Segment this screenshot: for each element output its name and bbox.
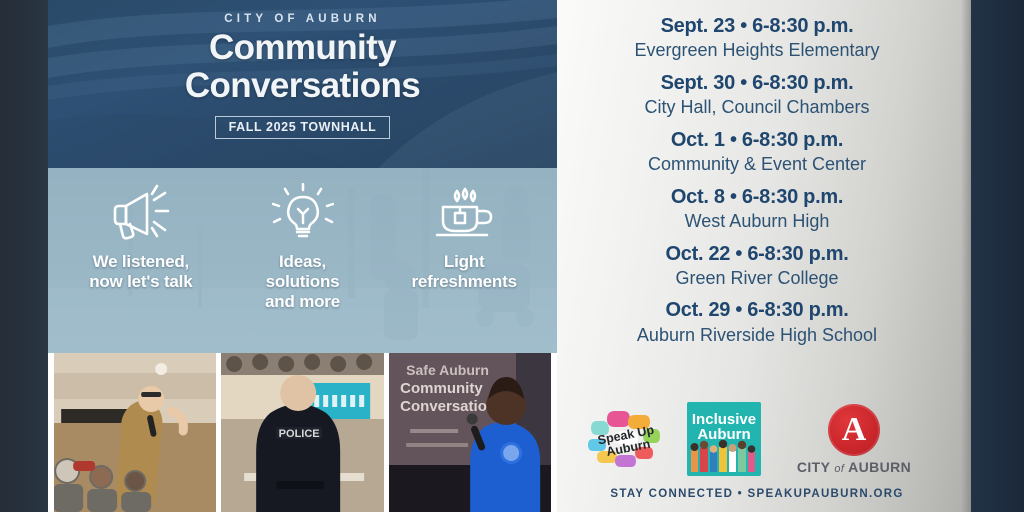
status-badge: FALL 2025 TOWNHALL bbox=[215, 116, 391, 139]
title-line-1: Community bbox=[209, 28, 396, 67]
feature-caption-line-2: solutions bbox=[266, 272, 340, 291]
page-title: Community Conversations bbox=[185, 31, 420, 104]
list-item: Oct. 22 • 6-8:30 p.m. Green River Colleg… bbox=[666, 242, 849, 290]
feature-caption-line-1: Ideas, bbox=[279, 252, 326, 271]
feature-caption-line-1: We listened, bbox=[93, 252, 189, 271]
title-line-2: Conversations bbox=[185, 69, 420, 103]
list-item: Oct. 1 • 6-8:30 p.m. Community & Event C… bbox=[648, 128, 866, 176]
auburn-a-mark: A bbox=[828, 404, 880, 456]
header-kicker: CITY OF AUBURN bbox=[224, 13, 381, 25]
feature-caption: We listened, now let's talk bbox=[89, 252, 192, 292]
event-date: Oct. 22 • 6-8:30 p.m. bbox=[666, 242, 849, 266]
feature-caption-line-3: and more bbox=[265, 292, 340, 311]
feature-caption-line-2: refreshments bbox=[412, 272, 517, 291]
event-date: Oct. 8 • 6-8:30 p.m. bbox=[671, 185, 843, 209]
left-side-band bbox=[0, 0, 48, 512]
auburn-a-letter: A bbox=[842, 413, 867, 447]
city-of-auburn-wordmark: CITY of AUBURN bbox=[797, 459, 911, 475]
features-band: We listened, now let's talk bbox=[48, 168, 557, 353]
wordmark-of: of bbox=[834, 463, 844, 475]
wordmark-city: CITY bbox=[797, 459, 830, 475]
right-side-band bbox=[971, 0, 1024, 512]
photo-presenter-at-safe-auburn-slide: Safe Auburn Community Conversations bbox=[389, 353, 551, 512]
list-item: Oct. 29 • 6-8:30 p.m. Auburn Riverside H… bbox=[637, 298, 877, 346]
inclusive-auburn-logo: Inclusive Auburn bbox=[687, 402, 761, 476]
photo-strip: POLICE Safe Auburn Community Conversatio… bbox=[48, 353, 557, 512]
partner-logos: Speak Up Auburn Inclusive Auburn bbox=[557, 396, 957, 482]
megaphone-icon bbox=[107, 182, 175, 244]
svg-text:Community: Community bbox=[400, 380, 483, 397]
list-item: Sept. 23 • 6-8:30 p.m. Evergreen Heights… bbox=[634, 14, 879, 62]
event-venue: City Hall, Council Chambers bbox=[644, 96, 869, 119]
poster-header: CITY OF AUBURN Community Conversations F… bbox=[48, 0, 557, 168]
list-item: Sept. 30 • 6-8:30 p.m. City Hall, Counci… bbox=[644, 71, 869, 119]
event-date: Oct. 29 • 6-8:30 p.m. bbox=[637, 298, 877, 322]
feature-caption-line-1: Light bbox=[444, 252, 485, 271]
event-date: Oct. 1 • 6-8:30 p.m. bbox=[648, 128, 866, 152]
event-list: Sept. 23 • 6-8:30 p.m. Evergreen Heights… bbox=[557, 14, 957, 355]
poster-left-column: CITY OF AUBURN Community Conversations F… bbox=[48, 0, 557, 512]
event-date: Sept. 23 • 6-8:30 p.m. bbox=[634, 14, 879, 38]
schedule-panel: Sept. 23 • 6-8:30 p.m. Evergreen Heights… bbox=[557, 0, 971, 512]
wordmark-auburn: AUBURN bbox=[848, 459, 911, 475]
feature-caption: Ideas, solutions and more bbox=[265, 252, 340, 312]
poster-screenshot: Sept. 23 • 6-8:30 p.m. Evergreen Heights… bbox=[0, 0, 1024, 512]
event-venue: West Auburn High bbox=[671, 210, 843, 233]
coffee-cup-icon bbox=[429, 182, 499, 244]
event-venue: Evergreen Heights Elementary bbox=[634, 39, 879, 62]
feature-item: Ideas, solutions and more bbox=[222, 182, 384, 353]
feature-caption-line-2: now let's talk bbox=[89, 272, 192, 291]
event-venue: Green River College bbox=[666, 267, 849, 290]
event-venue: Auburn Riverside High School bbox=[637, 324, 877, 347]
event-date: Sept. 30 • 6-8:30 p.m. bbox=[644, 71, 869, 95]
feature-item: Light refreshments bbox=[383, 182, 545, 353]
feature-caption: Light refreshments bbox=[412, 252, 517, 292]
svg-text:POLICE: POLICE bbox=[279, 428, 320, 440]
photo-police-officer-addressing-room: POLICE bbox=[221, 353, 383, 512]
city-of-auburn-logo: A CITY of AUBURN bbox=[779, 402, 929, 476]
speak-up-auburn-logo: Speak Up Auburn bbox=[585, 403, 669, 475]
lightbulb-icon bbox=[272, 182, 334, 244]
feature-item: We listened, now let's talk bbox=[60, 182, 222, 353]
photo-community-meeting-speaker bbox=[54, 353, 216, 512]
event-venue: Community & Event Center bbox=[648, 153, 866, 176]
list-item: Oct. 8 • 6-8:30 p.m. West Auburn High bbox=[671, 185, 843, 233]
footer-stay-connected: STAY CONNECTED • SPEAKUPAUBURN.ORG bbox=[557, 488, 957, 500]
svg-text:Safe Auburn: Safe Auburn bbox=[406, 362, 489, 378]
